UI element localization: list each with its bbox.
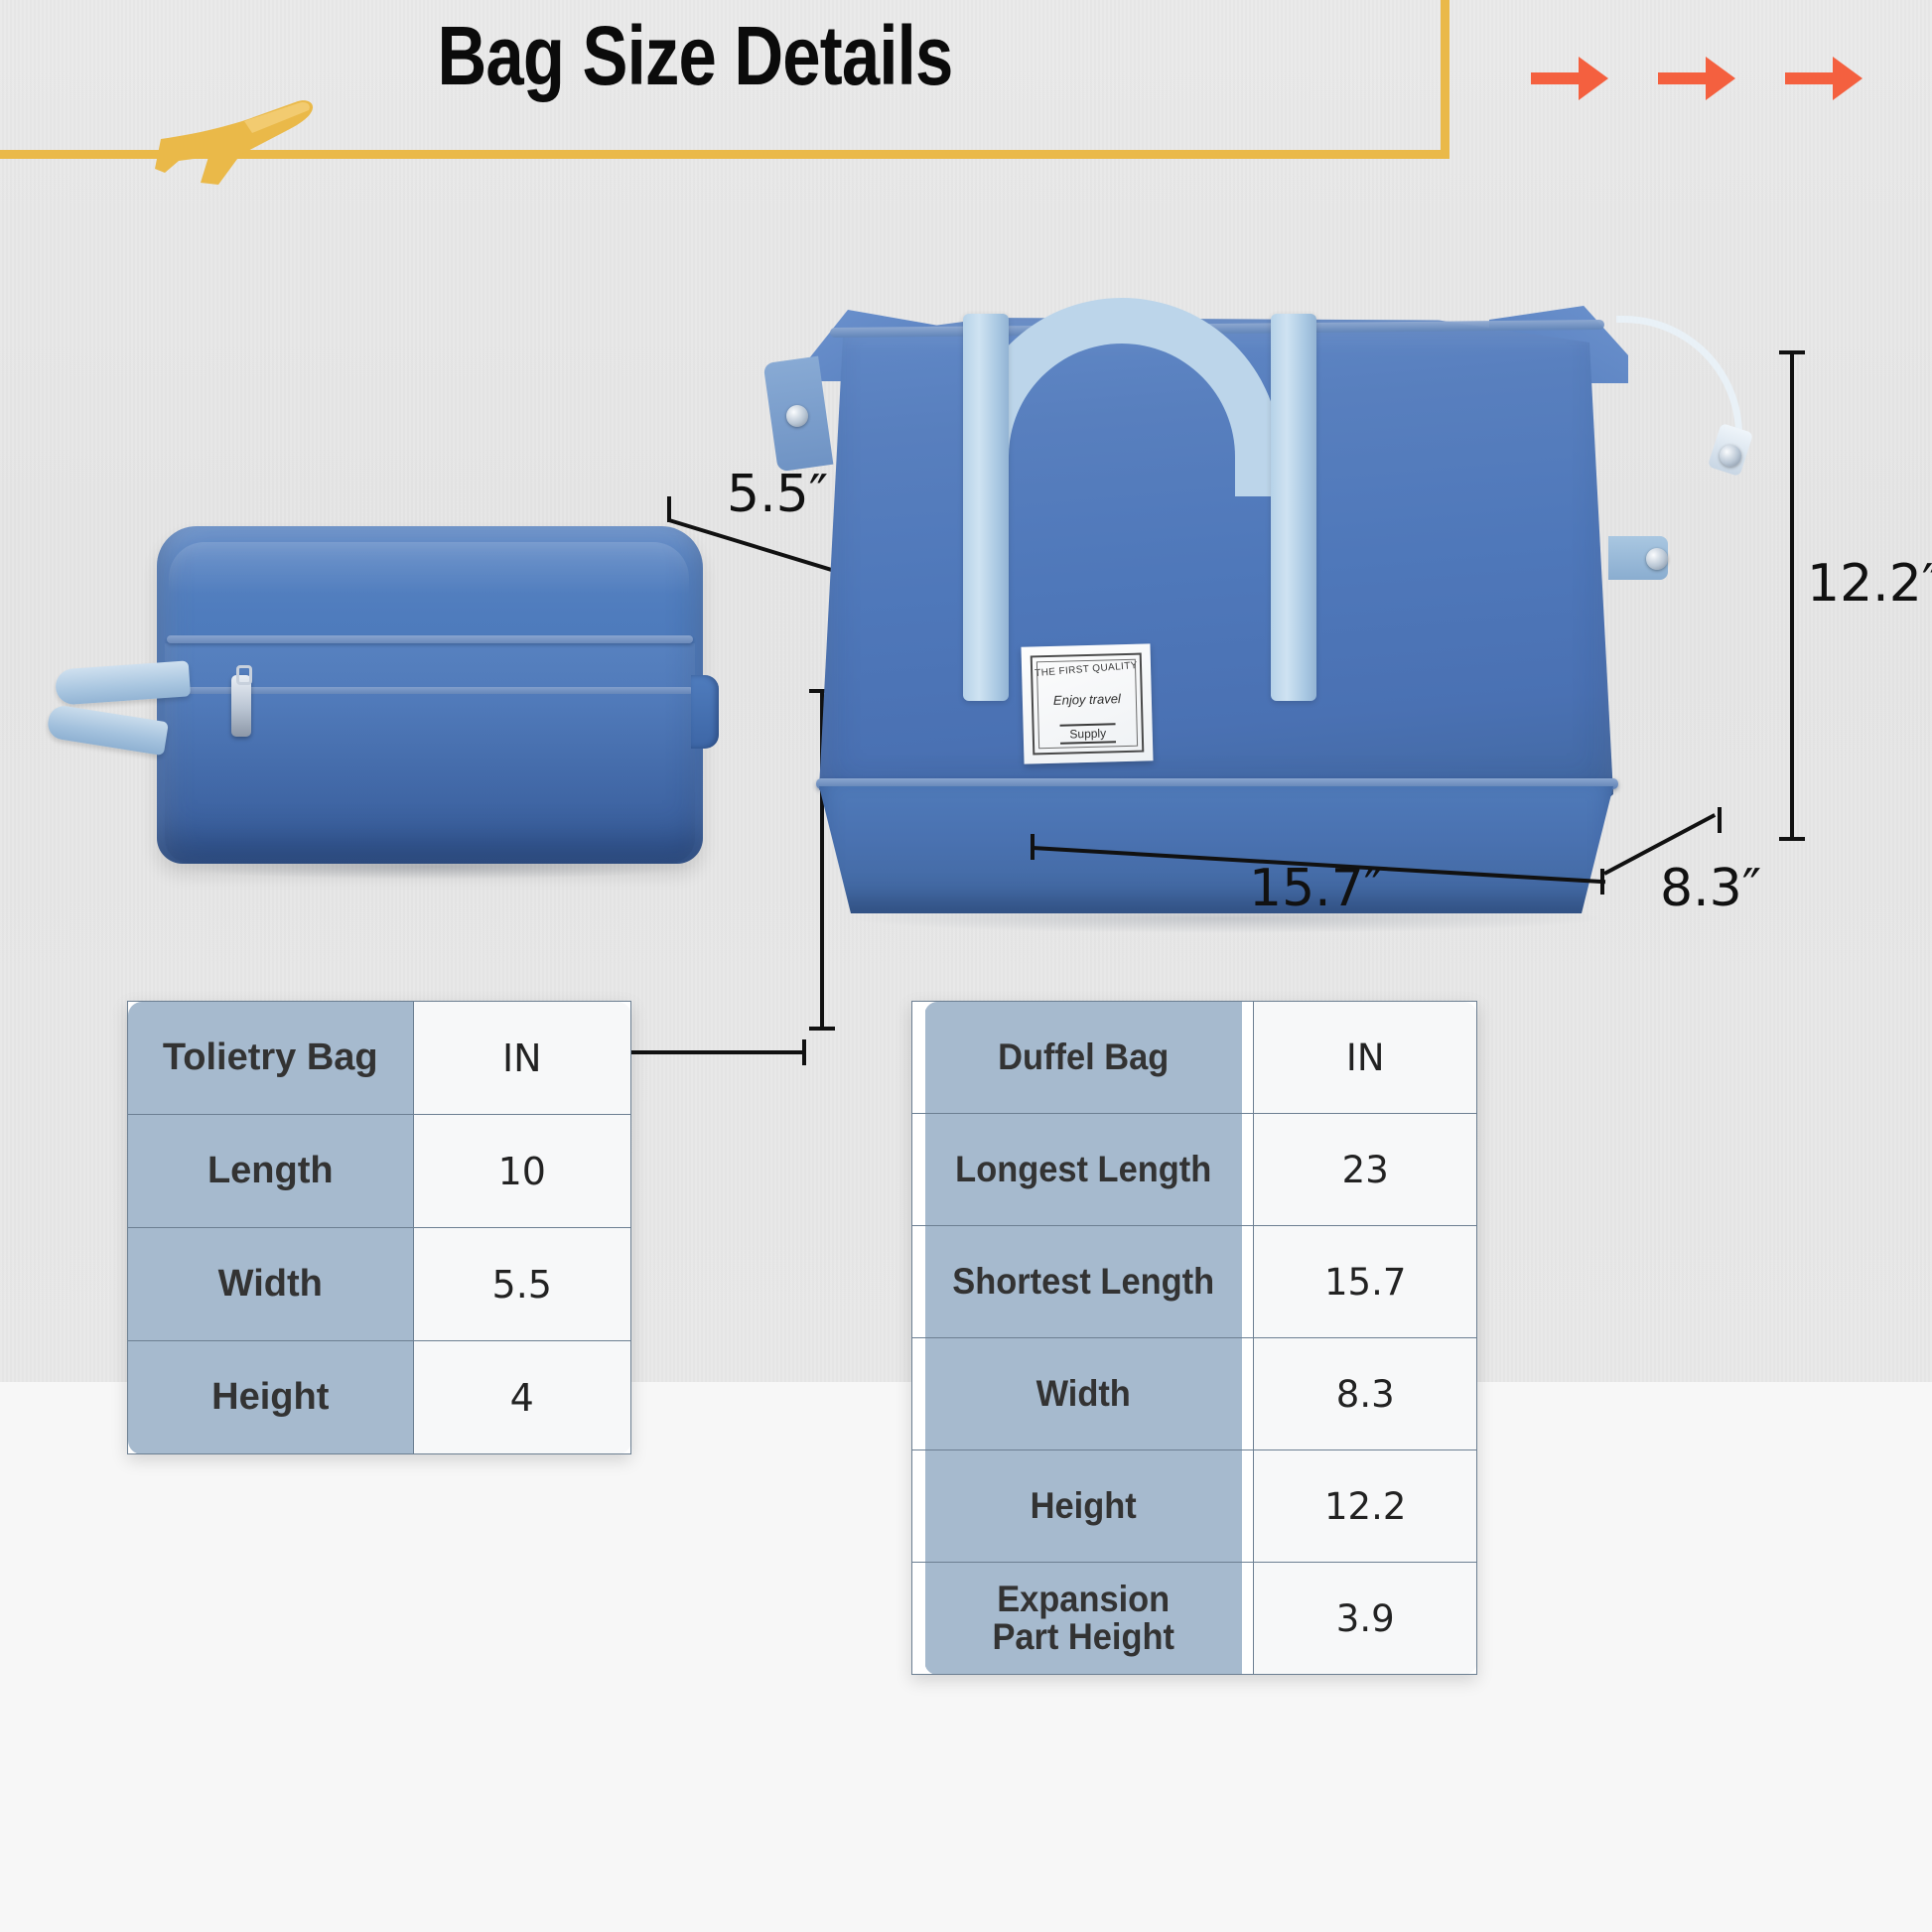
duffel-bag-handle-right: [1271, 314, 1316, 701]
table-row: Length 10: [128, 1115, 631, 1228]
expansion-label-line1: Expansion: [924, 1581, 1241, 1618]
rivet-icon: [786, 405, 808, 427]
table-row: Width 8.3: [912, 1338, 1477, 1450]
page-title: Bag Size Details: [125, 14, 1265, 97]
arrow-right-icon: [1783, 49, 1864, 108]
tag-line-3: Supply: [1059, 723, 1116, 744]
row-value-height: 4: [413, 1341, 630, 1454]
dim-cap-10-right: [802, 1039, 806, 1065]
dim-label-duffel-width: 8.3″: [1660, 859, 1761, 918]
dim-label-duffel-length: 15.7″: [1249, 859, 1383, 918]
product-scene: 5.5″ 4″ 10″ THE FIRST QUALITY Enjoy trav…: [0, 199, 1932, 993]
toiletry-size-table: Tolietry Bag IN Length 10 Width 5.5 Heig…: [127, 1001, 631, 1454]
row-label-height: Height: [128, 1341, 414, 1454]
duffel-bag-handle-left: [963, 314, 1009, 701]
toiletry-bag-wrist-strap: [48, 665, 187, 760]
table-header-label: Duffel Bag: [924, 1002, 1242, 1114]
row-value-length: 10: [413, 1115, 630, 1228]
duffel-size-table: Duffel Bag IN Longest Length 23 Shortest…: [911, 1001, 1477, 1675]
header: Bag Size Details: [0, 0, 1932, 199]
row-value-width: 5.5: [413, 1228, 630, 1341]
expansion-label-line2: Part Height: [924, 1618, 1241, 1656]
toiletry-bag-zipper: [167, 635, 693, 643]
row-value-height: 12.2: [1254, 1450, 1477, 1563]
zipper-pull-icon: [231, 675, 251, 737]
row-value-expansion-part-height: 3.9: [1254, 1563, 1477, 1675]
dim-cap-4-bottom: [809, 1027, 835, 1031]
table-row: Height 12.2: [912, 1450, 1477, 1563]
toiletry-bag-image: [48, 526, 703, 869]
table-row: Shortest Length 15.7: [912, 1226, 1477, 1338]
brand-label-tag: THE FIRST QUALITY Enjoy travel Supply: [1021, 643, 1153, 763]
table-row: Height 4: [128, 1341, 631, 1454]
duffel-bag-image: THE FIRST QUALITY Enjoy travel Supply: [735, 288, 1787, 943]
arrow-right-icon: [1529, 49, 1610, 108]
dim-cap-8p3-end: [1718, 807, 1722, 833]
row-value-shortest-length: 15.7: [1254, 1226, 1477, 1338]
dim-cap-12p2-bottom: [1779, 837, 1805, 841]
table-header-unit: IN: [1254, 1002, 1477, 1114]
brand-label-inner: THE FIRST QUALITY Enjoy travel Supply: [1031, 653, 1145, 756]
strap-band-upper: [55, 660, 191, 705]
arrow-group: [1529, 40, 1866, 117]
row-label-expansion-part-height: Expansion Part Height: [924, 1563, 1242, 1675]
tag-line-1: THE FIRST QUALITY: [1035, 660, 1138, 679]
toiletry-bag-side-tab: [691, 675, 719, 749]
table-row: Longest Length 23: [912, 1114, 1477, 1226]
row-label-shortest-length: Shortest Length: [924, 1226, 1242, 1338]
rivet-icon: [1646, 548, 1668, 570]
toiletry-bag-top-seam: [169, 542, 689, 594]
arrow-right-icon: [1656, 49, 1737, 108]
row-label-width: Width: [924, 1338, 1242, 1450]
row-label-longest-length: Longest Length: [924, 1114, 1242, 1226]
row-label-length: Length: [128, 1115, 414, 1228]
table-row: Width 5.5: [128, 1228, 631, 1341]
table-header-unit: IN: [413, 1002, 630, 1115]
row-value-width: 8.3: [1254, 1338, 1477, 1450]
row-value-longest-length: 23: [1254, 1114, 1477, 1226]
row-label-height: Height: [924, 1450, 1242, 1563]
strap-band-lower: [46, 704, 169, 756]
tag-line-2: Enjoy travel: [1053, 691, 1121, 708]
dim-label-duffel-height: 12.2″: [1807, 554, 1932, 614]
rivet-icon: [1720, 445, 1741, 467]
row-label-width: Width: [128, 1228, 414, 1341]
duffel-bag-expansion-section: [819, 786, 1613, 913]
duffel-bag-cord: [1616, 316, 1742, 442]
table-row: Duffel Bag IN: [912, 1002, 1477, 1114]
table-row: Tolietry Bag IN: [128, 1002, 631, 1115]
table-header-label: Tolietry Bag: [128, 1002, 414, 1115]
table-row: Expansion Part Height 3.9: [912, 1563, 1477, 1675]
dim-line-12p2: [1790, 350, 1794, 841]
